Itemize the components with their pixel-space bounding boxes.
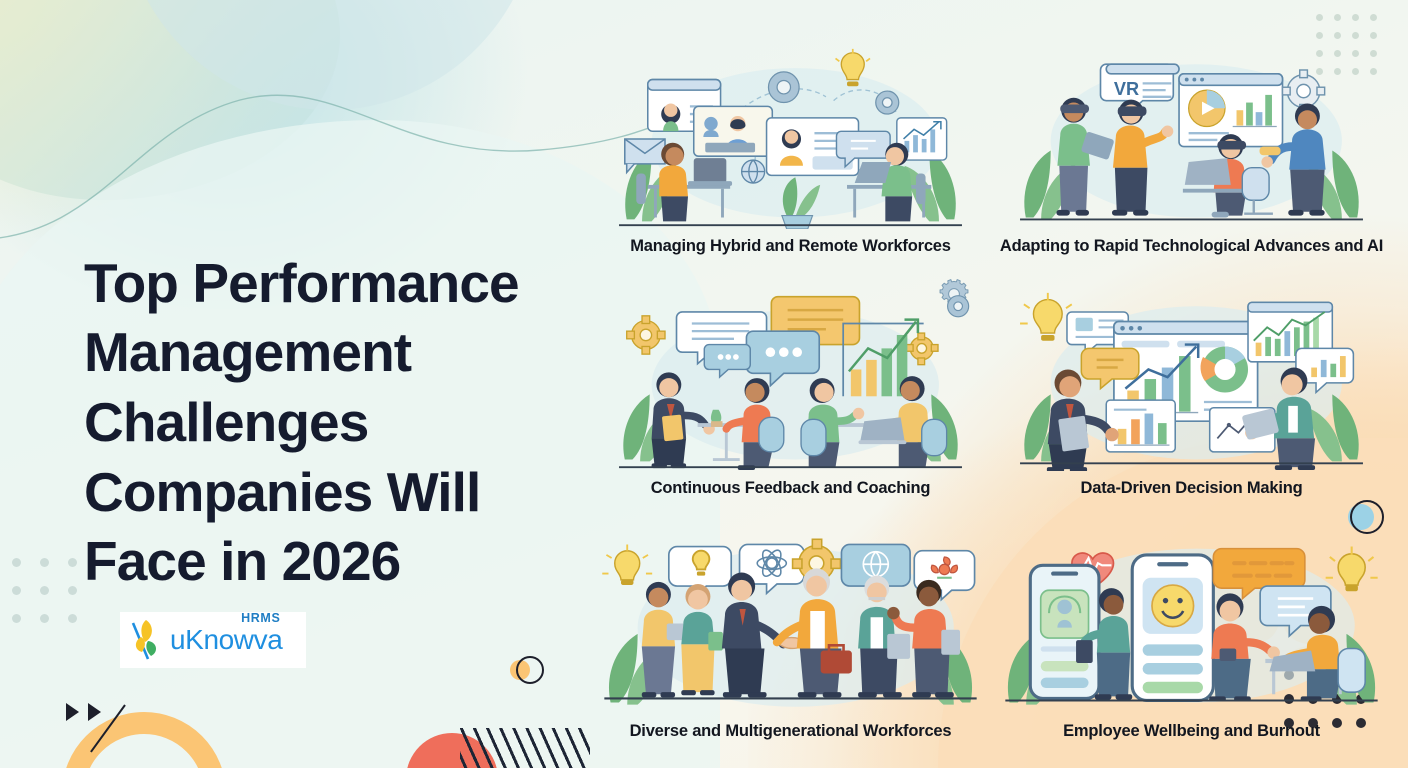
challenge-card-caption: Managing Hybrid and Remote Workforces bbox=[630, 236, 951, 257]
challenge-card-caption: Employee Wellbeing and Burnout bbox=[1063, 721, 1320, 742]
svg-text:VR: VR bbox=[1114, 78, 1139, 98]
challenge-card-grid: Managing Hybrid and Remote Workforces bbox=[596, 18, 1386, 742]
brand-logo[interactable]: HRMS uKnowva bbox=[120, 612, 306, 668]
challenge-card-caption: Continuous Feedback and Coaching bbox=[651, 478, 931, 499]
challenge-card-caption: Adapting to Rapid Technological Advances… bbox=[1000, 236, 1383, 257]
challenge-card-continuous-feedback-coaching[interactable]: Continuous Feedback and Coaching bbox=[596, 261, 985, 500]
challenge-card-data-driven-decision-making[interactable]: Data-Driven Decision Making bbox=[997, 261, 1386, 500]
coaching-conversation-illustration bbox=[596, 289, 985, 471]
ring-shape-small bbox=[516, 656, 544, 684]
remote-team-video-call-illustration bbox=[596, 47, 985, 229]
logo-brand: uKnowva bbox=[170, 624, 282, 655]
leaf-sprout-icon bbox=[126, 617, 168, 663]
logo-suffix: HRMS bbox=[241, 611, 280, 625]
challenge-card-diverse-multigenerational-workforces[interactable]: Diverse and Multigenerational Workforces bbox=[596, 503, 985, 742]
triangle-icon-1 bbox=[66, 703, 79, 721]
wellbeing-mobile-apps-illustration bbox=[997, 532, 1386, 714]
page-title: Top Performance Management Challenges Co… bbox=[84, 249, 604, 597]
vr-headset-technology-illustration: VR bbox=[997, 47, 1386, 229]
challenge-card-managing-hybrid-remote-workforces[interactable]: Managing Hybrid and Remote Workforces bbox=[596, 18, 985, 257]
challenge-card-caption: Data-Driven Decision Making bbox=[1081, 478, 1303, 499]
logo-wordmark: HRMS uKnowva bbox=[170, 626, 282, 654]
diagonal-stripes-shape bbox=[460, 728, 590, 768]
analytics-dashboard-illustration bbox=[997, 289, 1386, 471]
diverse-team-handshake-illustration bbox=[596, 532, 985, 714]
challenge-card-employee-wellbeing-burnout[interactable]: Employee Wellbeing and Burnout bbox=[997, 503, 1386, 742]
challenge-card-caption: Diverse and Multigenerational Workforces bbox=[630, 721, 952, 742]
challenge-card-adapting-rapid-technological-advances-ai[interactable]: VR bbox=[997, 18, 1386, 257]
triangle-icon-2 bbox=[88, 703, 101, 721]
infographic-canvas: Top Performance Management Challenges Co… bbox=[0, 0, 1408, 768]
